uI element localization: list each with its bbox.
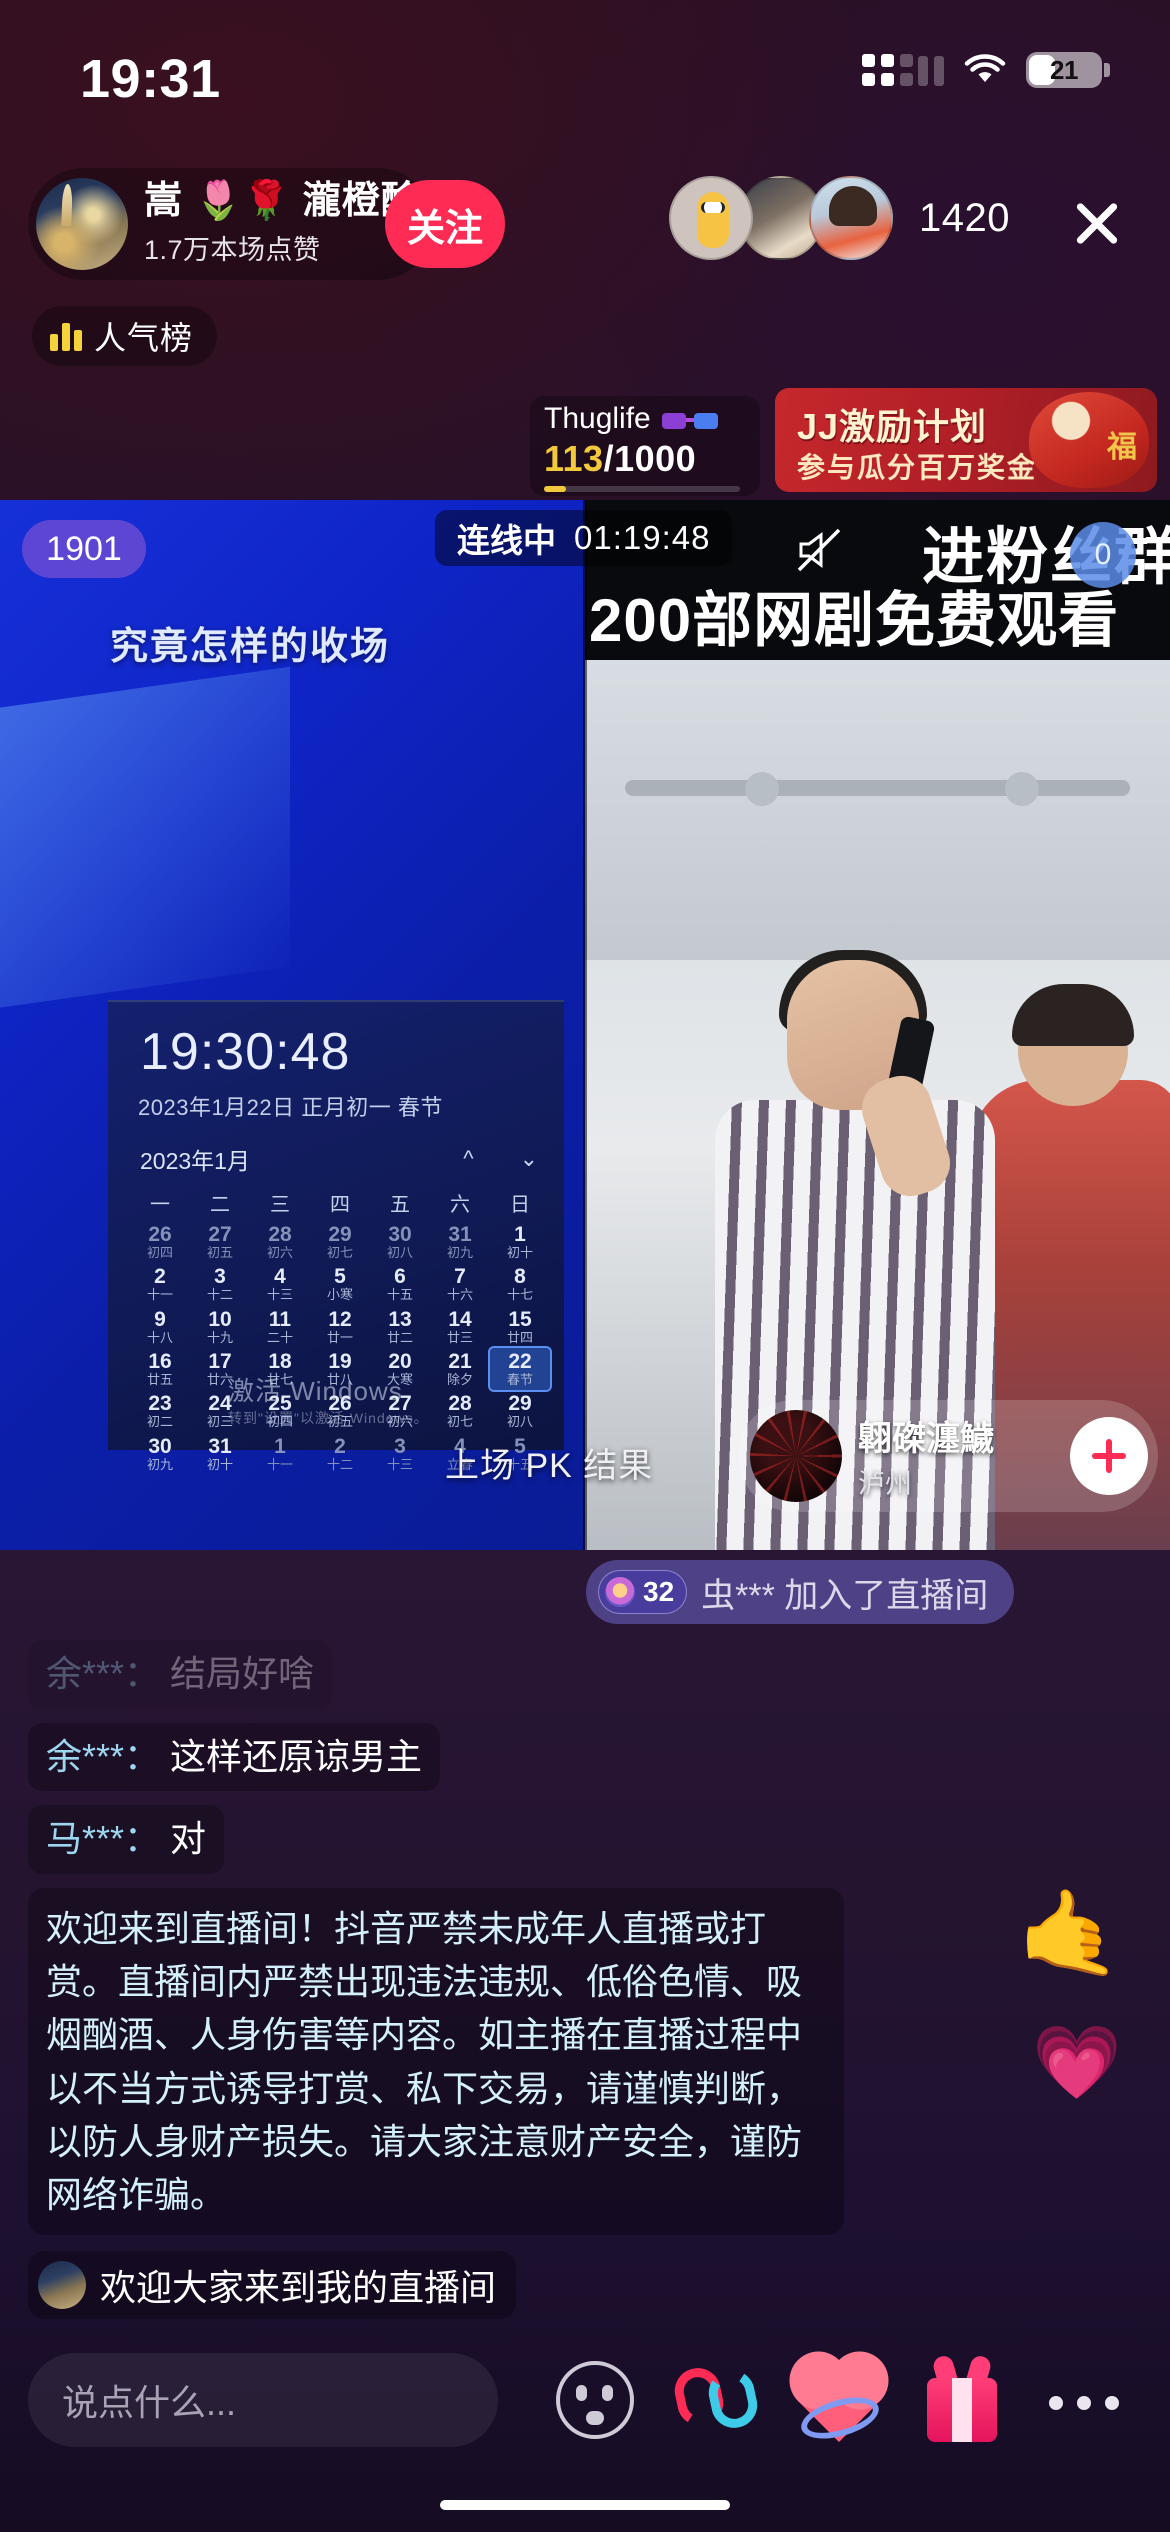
promo-title: JJ激励计划 <box>797 398 987 450</box>
calendar-day[interactable]: 11二十 <box>250 1306 310 1348</box>
calendar-day-lunar: 初二 <box>130 1415 190 1429</box>
calendar-day-number: 7 <box>430 1266 490 1288</box>
scene-wall <box>585 660 1170 960</box>
calendar-weekday-row: 一二三四五六日 <box>130 1184 550 1221</box>
task-title-row: Thuglife <box>544 402 746 436</box>
guest-banner-bottom: 200部网剧免费观看 <box>589 572 1119 659</box>
calendar-day[interactable]: 10十九 <box>190 1306 250 1348</box>
level-number: 32 <box>643 1576 674 1608</box>
wifi-icon <box>964 54 1006 86</box>
hand-reaction-icon: 🤙 <box>1017 1884 1122 1983</box>
status-bar-indicators: 21 <box>862 52 1102 88</box>
fortune-god-icon <box>1029 392 1149 488</box>
calendar-day-lunar: 十三 <box>370 1458 430 1472</box>
calendar-day[interactable]: 21除夕 <box>430 1348 490 1390</box>
calendar-day[interactable]: 22春节 <box>490 1348 550 1390</box>
calendar-day[interactable]: 31初十 <box>190 1433 250 1475</box>
calendar-day-number: 18 <box>250 1351 310 1373</box>
chat-messages: 余***： 结局好啥余***： 这样还原谅男主马***： 对 <box>28 1640 848 1888</box>
calendar-day-number: 8 <box>490 1266 550 1288</box>
calendar-day-number: 17 <box>190 1351 250 1373</box>
cohost-avatar[interactable] <box>750 1410 842 1502</box>
calendar-day[interactable]: 8十七 <box>490 1263 550 1305</box>
close-icon[interactable] <box>1068 194 1126 252</box>
chat-message-row: 马***： 对 <box>28 1805 848 1888</box>
task-title: Thuglife <box>544 402 651 436</box>
calendar-day[interactable]: 31初九 <box>430 1221 490 1263</box>
calendar-day-lunar: 初十 <box>190 1458 250 1472</box>
calendar-day-number: 11 <box>250 1309 310 1331</box>
calendar-week: 9十八10十九11二十12廿一13廿二14廿三15廿四 <box>130 1306 550 1348</box>
host-info-chip[interactable]: 嵩 🌷🌹 瀧橙醶 1.7万本场点赞 <box>28 168 434 280</box>
emoji-icon <box>556 2361 634 2439</box>
calendar-day[interactable]: 5小寒 <box>310 1263 370 1305</box>
calendar-day-number: 12 <box>310 1309 370 1331</box>
calendar-day-lunar: 小寒 <box>310 1288 370 1302</box>
calendar-day-lunar: 十一 <box>250 1458 310 1472</box>
calendar-day-lunar: 十一 <box>130 1288 190 1302</box>
link-icon <box>674 2356 760 2442</box>
calendar-day-lunar: 二十 <box>250 1331 310 1345</box>
calendar-day-lunar: 十八 <box>130 1331 190 1345</box>
viewer-list[interactable]: 1420 <box>669 176 1010 260</box>
calendar-day-lunar: 廿四 <box>490 1331 550 1345</box>
heart-like-icon <box>796 2356 884 2444</box>
calendar-day-lunar: 初七 <box>310 1246 370 1260</box>
calendar-day-number: 27 <box>190 1224 250 1246</box>
chat-message[interactable]: 余***： 这样还原谅男主 <box>28 1723 440 1792</box>
calendar-day-lunar: 廿一 <box>310 1331 370 1345</box>
battery-level: 21 <box>1026 55 1102 86</box>
calendar-day[interactable]: 29初七 <box>310 1221 370 1263</box>
calendar-day-number: 1 <box>490 1224 550 1246</box>
calendar-month: 2023年1月 <box>140 1142 250 1176</box>
calendar-day-number: 16 <box>130 1351 190 1373</box>
viewer-avatar[interactable] <box>809 176 893 260</box>
popularity-rank-button[interactable]: 人气榜 <box>32 306 217 366</box>
chevron-up-icon[interactable]: ^ <box>463 1146 473 1172</box>
calendar-day-lunar: 初七 <box>430 1415 490 1429</box>
calendar-day[interactable]: 7十六 <box>430 1263 490 1305</box>
calendar-day[interactable]: 27初五 <box>190 1221 250 1263</box>
calendar-day[interactable]: 2十二 <box>310 1433 370 1475</box>
calendar-day-number: 9 <box>130 1309 190 1331</box>
windows-clock-panel: 19:30:48 2023年1月22日 正月初一 春节 2023年1月 ^ ⌄ … <box>108 1000 564 1450</box>
calendar-day-lunar: 初六 <box>250 1246 310 1260</box>
avatar[interactable] <box>36 178 128 270</box>
join-notification: 32 虫*** 加入了直播间 <box>586 1560 1014 1624</box>
guest-video-pane[interactable]: 进粉丝群 0 200部网剧免费观看 <box>585 500 1170 1550</box>
bottom-toolbar: 说点什么... <box>0 2340 1170 2460</box>
calendar-day-number: 3 <box>190 1266 250 1288</box>
chat-username[interactable]: 余***： <box>46 1653 160 1694</box>
cohost-info-chip[interactable]: 翺磔瀍鱥 泸州 <box>738 1400 1158 1512</box>
task-progress-bar <box>544 486 740 492</box>
calendar-day-number: 2 <box>130 1266 190 1288</box>
level-gem-icon <box>605 1577 635 1607</box>
calendar-day-number: 14 <box>430 1309 490 1331</box>
calendar-day-number: 28 <box>250 1224 310 1246</box>
calendar-day[interactable]: 13廿二 <box>370 1306 430 1348</box>
chat-username[interactable]: 马***： <box>46 1818 160 1859</box>
task-progress-card[interactable]: Thuglife 113/1000 <box>530 396 760 496</box>
windows-watermark: 激活 Windows 转到"设置"以激活 Windows。 <box>228 1371 429 1428</box>
calendar-day-number: 1 <box>250 1436 310 1458</box>
calendar-day-number: 30 <box>130 1436 190 1458</box>
calendar-day-lunar: 十九 <box>190 1331 250 1345</box>
calendar-week: 2十一3十二4十三5小寒6十五7十六8十七 <box>130 1263 550 1305</box>
host-video-pane[interactable]: 究竟怎样的收场 19:30:48 2023年1月22日 正月初一 春节 2023… <box>0 500 585 1550</box>
level-badge: 32 <box>598 1570 687 1614</box>
calendar-day-lunar: 十三 <box>250 1288 310 1302</box>
calendar-day[interactable]: 30初九 <box>130 1433 190 1475</box>
calendar-day-lunar: 初九 <box>430 1246 490 1260</box>
calendar-day-lunar: 十五 <box>370 1288 430 1302</box>
host-likes: 1.7万本场点赞 <box>144 228 420 267</box>
viewer-avatar[interactable] <box>669 176 753 260</box>
calendar-day-number: 2 <box>310 1436 370 1458</box>
calendar-day-lunar: 十二 <box>190 1288 250 1302</box>
calendar-day[interactable]: 26初四 <box>130 1221 190 1263</box>
calendar-day[interactable]: 1十一 <box>250 1433 310 1475</box>
calendar-weekday: 二 <box>190 1184 250 1221</box>
calendar-day[interactable]: 2十一 <box>130 1263 190 1305</box>
status-bar: 19:31 21 <box>0 0 1170 140</box>
calendar-day-lunar: 初十 <box>490 1246 550 1260</box>
link-status-bar: 连线中 01:19:48 <box>435 510 732 566</box>
mute-icon[interactable] <box>791 522 847 578</box>
pk-video-stage[interactable]: 究竟怎样的收场 19:30:48 2023年1月22日 正月初一 春节 2023… <box>0 500 1170 1550</box>
emoji-button[interactable] <box>551 2356 639 2444</box>
link-status-timer: 01:19:48 <box>574 519 710 557</box>
calendar-day-number: 13 <box>370 1309 430 1331</box>
calendar-day-number: 26 <box>130 1224 190 1246</box>
calendar-day-number: 31 <box>190 1436 250 1458</box>
calendar-header: 2023年1月 ^ ⌄ <box>130 1142 550 1184</box>
promo-subtitle: 参与瓜分百万奖金 <box>797 446 1037 486</box>
calendar-weekday: 五 <box>370 1184 430 1221</box>
cohost-location: 泸州 <box>858 1462 1070 1501</box>
calendar-day[interactable]: 28初七 <box>430 1390 490 1432</box>
calendar-day-number: 19 <box>310 1351 370 1373</box>
more-icon <box>1041 2356 1129 2444</box>
calendar-day-lunar: 初五 <box>190 1246 250 1260</box>
calendar-day-number: 10 <box>190 1309 250 1331</box>
calendar-day-lunar: 十二 <box>310 1458 370 1472</box>
calendar-day-number: 29 <box>490 1393 550 1415</box>
calendar-day-lunar: 廿二 <box>370 1331 430 1345</box>
more-button[interactable] <box>1041 2356 1129 2444</box>
calendar-day-number: 15 <box>490 1309 550 1331</box>
plus-icon[interactable] <box>1070 1417 1148 1495</box>
calendar-nav[interactable]: ^ ⌄ <box>463 1146 538 1172</box>
windows-clock: 19:30:48 <box>140 1022 350 1082</box>
calendar-day-lunar: 初九 <box>130 1458 190 1472</box>
calendar-day-lunar: 廿五 <box>130 1373 190 1387</box>
calendar-day-number: 21 <box>430 1351 490 1373</box>
chat-message[interactable]: 余***： 结局好啥 <box>28 1640 332 1709</box>
calendar-day-lunar: 初四 <box>130 1246 190 1260</box>
battery-icon: 21 <box>1026 52 1102 88</box>
chat-username[interactable]: 余***： <box>46 1736 160 1777</box>
bar-chart-icon <box>50 321 82 351</box>
left-video-caption: 究竟怎样的收场 <box>110 615 390 670</box>
host-name: 嵩 🌷🌹 瀧橙醶 <box>144 181 420 223</box>
task-current: 113 <box>544 438 604 479</box>
calendar-day-number: 3 <box>370 1436 430 1458</box>
welcome-avatar-icon <box>38 2261 86 2309</box>
chat-input[interactable]: 说点什么... <box>28 2353 498 2447</box>
calendar-day[interactable]: 12廿一 <box>310 1306 370 1348</box>
calendar-day-lunar: 十六 <box>430 1288 490 1302</box>
calendar-day-lunar: 廿三 <box>430 1331 490 1345</box>
calendar-weekday: 三 <box>250 1184 310 1221</box>
calendar-day-number: 4 <box>250 1266 310 1288</box>
heart-reaction-icon: 💗 <box>1032 2020 1122 2105</box>
windows-watermark-title: 激活 Windows <box>228 1376 403 1406</box>
promo-banner[interactable]: JJ激励计划 参与瓜分百万奖金 <box>775 388 1157 492</box>
chat-text: 对 <box>160 1818 206 1859</box>
link-button[interactable] <box>674 2356 762 2444</box>
calendar-weekday: 日 <box>490 1184 550 1221</box>
windows-watermark-sub: 转到"设置"以激活 Windows。 <box>228 1408 429 1428</box>
task-progress-text: 113/1000 <box>544 438 746 480</box>
calendar-day-lunar: 十七 <box>490 1288 550 1302</box>
live-stream-screen: 19:31 21 嵩 🌷🌹 瀧橙醶 1.7万本场点赞 <box>0 0 1170 2532</box>
calendar-day[interactable]: 16廿五 <box>130 1348 190 1390</box>
chat-message[interactable]: 马***： 对 <box>28 1805 224 1874</box>
scene-rail <box>625 780 1130 796</box>
toolbar-actions <box>498 2356 1170 2444</box>
calendar-day-number: 20 <box>370 1351 430 1373</box>
calendar-week: 26初四27初五28初六29初七30初八31初九1初十 <box>130 1221 550 1263</box>
calendar-day-lunar: 初八 <box>370 1246 430 1260</box>
windows-date: 2023年1月22日 正月初一 春节 <box>138 1090 443 1122</box>
home-indicator <box>440 2500 730 2510</box>
calendar-day-number: 6 <box>370 1266 430 1288</box>
popularity-rank-label: 人气榜 <box>94 313 193 359</box>
host-meta: 嵩 🌷🌹 瀧橙醶 1.7万本场点赞 <box>144 181 420 268</box>
calendar-weekday: 六 <box>430 1184 490 1221</box>
calendar-day[interactable]: 3十三 <box>370 1433 430 1475</box>
calendar-body: 26初四27初五28初六29初七30初八31初九1初十2十一3十二4十三5小寒6… <box>130 1221 550 1475</box>
pk-result-button[interactable]: 上场 PK 结果 <box>445 1438 653 1487</box>
gift-button[interactable] <box>918 2356 1006 2444</box>
sunglasses-icon <box>661 407 719 431</box>
cohost-meta: 翺磔瀍鱥 泸州 <box>858 1411 1070 1501</box>
signal-grid-icon <box>862 54 913 86</box>
welcome-message: 欢迎大家来到我的直播间 <box>28 2251 516 2319</box>
pk-divider <box>583 500 587 1550</box>
chat-message-row: 余***： 结局好啥 <box>28 1640 848 1723</box>
calendar-day-number: 22 <box>490 1351 550 1373</box>
calendar-day-lunar: 初八 <box>490 1415 550 1429</box>
chevron-down-icon[interactable]: ⌄ <box>520 1146 538 1172</box>
calendar-day-number: 5 <box>310 1266 370 1288</box>
welcome-text: 欢迎大家来到我的直播间 <box>100 2259 496 2311</box>
calendar-day[interactable]: 9十八 <box>130 1306 190 1348</box>
chat-message-row: 余***： 这样还原谅男主 <box>28 1723 848 1806</box>
chat-text: 这样还原谅男主 <box>160 1736 422 1777</box>
gift-icon <box>923 2356 1001 2442</box>
join-text: 虫*** 加入了直播间 <box>701 1568 988 1617</box>
calendar-day[interactable]: 30初八 <box>370 1221 430 1263</box>
calendar-day[interactable]: 1初十 <box>490 1221 550 1263</box>
calendar-weekday: 一 <box>130 1184 190 1221</box>
link-status-label: 连线中 <box>457 514 556 562</box>
calendar-day-number: 30 <box>370 1224 430 1246</box>
cohost-name: 翺磔瀍鱥 <box>858 1411 1070 1460</box>
chat-text: 结局好啥 <box>160 1653 314 1694</box>
calendar-day-number: 28 <box>430 1393 490 1415</box>
calendar-day[interactable]: 28初六 <box>250 1221 310 1263</box>
signal-bars-icon <box>918 56 944 86</box>
calendar-day[interactable]: 29初八 <box>490 1390 550 1432</box>
calendar-day[interactable]: 23初二 <box>130 1390 190 1432</box>
calendar-weekday: 四 <box>310 1184 370 1221</box>
calendar-day-number: 31 <box>430 1224 490 1246</box>
like-button[interactable] <box>796 2356 884 2444</box>
system-notice: 欢迎来到直播间！抖音严禁未成年人直播或打赏。直播间内严禁出现违法违规、低俗色情、… <box>28 1888 844 2236</box>
follow-button[interactable]: 关注 <box>385 180 505 268</box>
calendar-day[interactable]: 3十二 <box>190 1263 250 1305</box>
status-bar-time: 19:31 <box>80 48 221 110</box>
task-total: 1000 <box>614 438 696 479</box>
calendar-day-lunar: 除夕 <box>430 1373 490 1387</box>
calendar-day[interactable]: 15廿四 <box>490 1306 550 1348</box>
chat-list[interactable]: 余***： 结局好啥余***： 这样还原谅男主马***： 对 欢迎来到直播间！抖… <box>28 1640 848 2319</box>
live-header: 嵩 🌷🌹 瀧橙醶 1.7万本场点赞 关注 1420 <box>0 168 1170 292</box>
task-separator: / <box>604 438 615 479</box>
calendar-day[interactable]: 6十五 <box>370 1263 430 1305</box>
calendar-day-lunar: 春节 <box>490 1373 550 1387</box>
calendar-day-number: 23 <box>130 1393 190 1415</box>
live-room-number-badge: 1901 <box>22 520 146 578</box>
calendar-day-number: 29 <box>310 1224 370 1246</box>
calendar-day[interactable]: 4十三 <box>250 1263 310 1305</box>
calendar-day[interactable]: 14廿三 <box>430 1306 490 1348</box>
viewer-count: 1420 <box>919 196 1010 241</box>
